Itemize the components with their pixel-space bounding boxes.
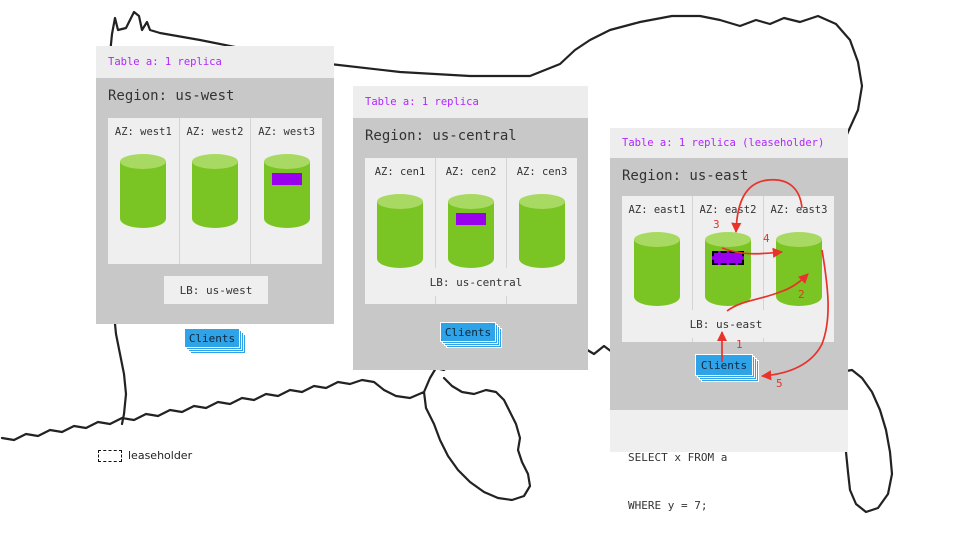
clients-stack-us-east[interactable]: Clients <box>695 354 761 382</box>
legend-label: leaseholder <box>128 449 192 462</box>
clients-label-us-east[interactable]: Clients <box>695 354 753 376</box>
load-balancer-us-central[interactable]: LB: us-central <box>417 268 535 296</box>
az-label-west3: AZ: west3 <box>251 126 322 138</box>
region-title-us-central: Region: us-central <box>365 128 517 144</box>
replica-block-east2-leaseholder[interactable] <box>712 251 744 265</box>
region-title-us-east: Region: us-east <box>622 168 748 184</box>
sql-query-box: SELECT x FROM a WHERE y = 7; <box>610 410 848 452</box>
cylinder-top <box>634 232 680 247</box>
node-cylinder-cen1[interactable] <box>377 194 423 268</box>
az-label-cen1: AZ: cen1 <box>365 166 435 178</box>
cylinder-top <box>120 154 166 169</box>
region-panel-us-west: Table a: 1 replica Region: us-west AZ: w… <box>96 46 334 324</box>
load-balancer-us-west[interactable]: LB: us-west <box>164 276 268 304</box>
table-replica-leaseholder-label: Table a: 1 replica (leaseholder) <box>622 137 824 149</box>
az-label-west2: AZ: west2 <box>180 126 251 138</box>
diagram-canvas: Table a: 1 replica Region: us-west AZ: w… <box>0 0 960 540</box>
region-header-us-west: Table a: 1 replica <box>96 46 334 78</box>
node-cylinder-east1[interactable] <box>634 232 680 306</box>
cylinder-top <box>448 194 494 209</box>
clients-stack-us-west[interactable]: Clients <box>184 328 246 354</box>
sql-line-2: WHERE y = 7; <box>628 498 848 514</box>
step-number-1: 1 <box>736 338 743 351</box>
load-balancer-us-east[interactable]: LB: us-east <box>672 310 780 338</box>
region-header-us-east: Table a: 1 replica (leaseholder) <box>610 128 848 158</box>
step-number-3: 3 <box>713 218 720 231</box>
cylinder-top <box>776 232 822 247</box>
replica-block-cen2[interactable] <box>456 213 486 225</box>
region-title-us-west: Region: us-west <box>108 88 234 104</box>
az-cell-west3[interactable]: AZ: west3 <box>251 118 322 264</box>
step-number-2: 2 <box>798 288 805 301</box>
table-replica-label: Table a: 1 replica <box>108 56 222 68</box>
az-label-cen2: AZ: cen2 <box>436 166 506 178</box>
dashed-rect-icon <box>98 450 122 462</box>
cylinder-body <box>634 239 680 306</box>
step-number-5: 5 <box>776 377 783 390</box>
node-cylinder-west3[interactable] <box>264 154 310 228</box>
sql-line-1: SELECT x FROM a <box>628 450 848 466</box>
cylinder-body <box>448 201 494 268</box>
cylinder-body <box>120 161 166 228</box>
cylinder-top <box>377 194 423 209</box>
cylinder-body <box>705 239 751 306</box>
node-cylinder-west2[interactable] <box>192 154 238 228</box>
cylinder-body <box>264 161 310 228</box>
region-header-us-central: Table a: 1 replica <box>353 86 588 118</box>
cylinder-top <box>519 194 565 209</box>
cylinder-body <box>519 201 565 268</box>
cylinder-top <box>192 154 238 169</box>
table-replica-label: Table a: 1 replica <box>365 96 479 108</box>
az-cell-west1[interactable]: AZ: west1 <box>108 118 180 264</box>
legend: leaseholder <box>98 449 192 462</box>
cylinder-top <box>264 154 310 169</box>
replica-block-west3[interactable] <box>272 173 302 185</box>
step-number-4: 4 <box>763 232 770 245</box>
az-label-west1: AZ: west1 <box>108 126 179 138</box>
az-label-east1: AZ: east1 <box>622 204 692 216</box>
az-row-us-west: AZ: west1 AZ: west2 AZ: west3 <box>108 118 322 264</box>
cylinder-body <box>192 161 238 228</box>
clients-label-us-west[interactable]: Clients <box>184 328 240 348</box>
az-label-east2: AZ: east2 <box>693 204 763 216</box>
node-cylinder-east2[interactable] <box>705 232 751 306</box>
cylinder-top <box>705 232 751 247</box>
region-panel-us-central: Table a: 1 replica Region: us-central AZ… <box>353 86 588 370</box>
node-cylinder-cen2[interactable] <box>448 194 494 268</box>
cylinder-body <box>377 201 423 268</box>
clients-label-us-central[interactable]: Clients <box>440 322 496 342</box>
node-cylinder-cen3[interactable] <box>519 194 565 268</box>
az-cell-west2[interactable]: AZ: west2 <box>180 118 252 264</box>
node-cylinder-west1[interactable] <box>120 154 166 228</box>
clients-stack-us-central[interactable]: Clients <box>440 322 502 348</box>
az-label-east3: AZ: east3 <box>764 204 834 216</box>
region-panel-us-east: Table a: 1 replica (leaseholder) Region:… <box>610 128 848 410</box>
az-label-cen3: AZ: cen3 <box>507 166 577 178</box>
